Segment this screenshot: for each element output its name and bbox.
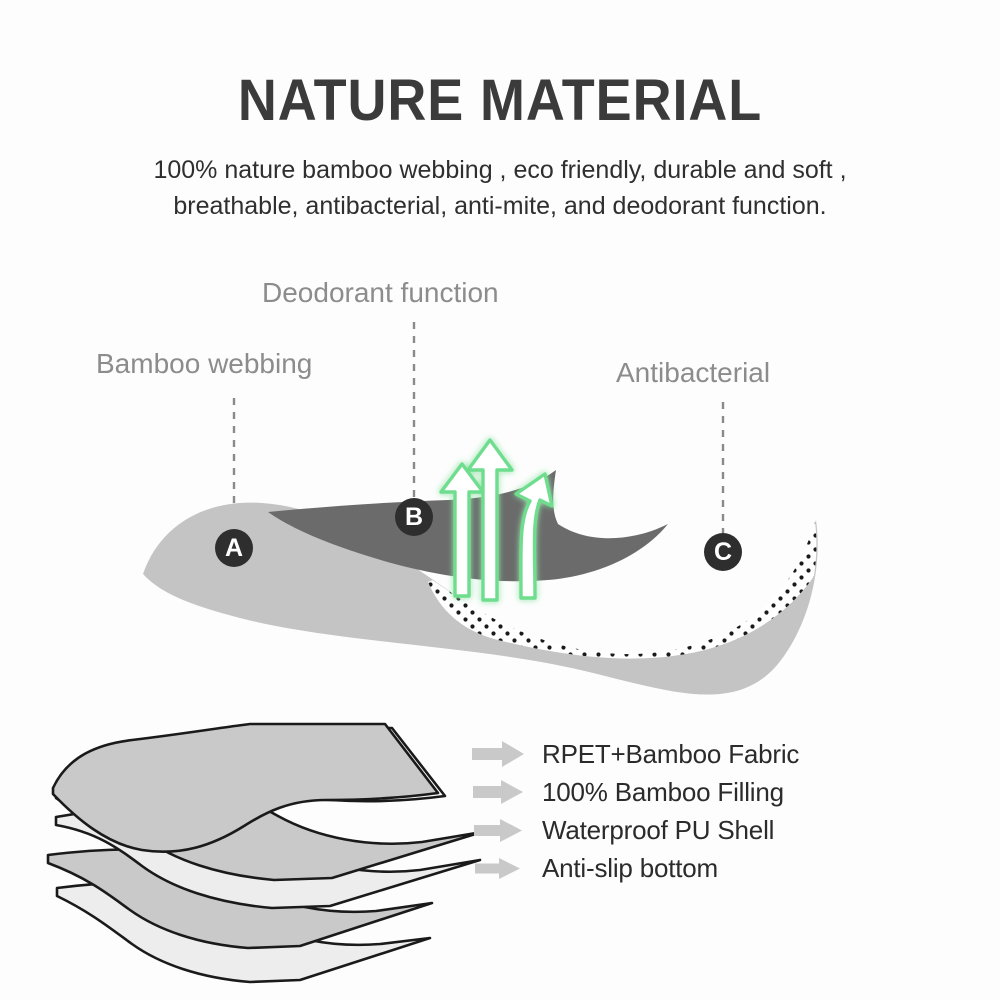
- breathability-arrows: [441, 440, 552, 600]
- layer-list-item-1: 100% Bamboo Filling: [470, 773, 920, 811]
- callout-marker-b[interactable]: B: [395, 498, 433, 536]
- callout-marker-c[interactable]: C: [704, 533, 742, 571]
- layer-label-0: RPET+Bamboo Fabric: [542, 739, 799, 770]
- layer-label-2: Waterproof PU Shell: [542, 815, 774, 846]
- layer-list-item-0: RPET+Bamboo Fabric: [470, 735, 920, 773]
- right-arrow-icon: [470, 817, 526, 844]
- right-arrow-icon: [470, 856, 526, 881]
- callout-marker-a[interactable]: A: [215, 529, 253, 567]
- callout-marker-a-letter: A: [225, 534, 243, 562]
- layer-list-item-3: Anti-slip bottom: [470, 849, 920, 887]
- callout-marker-c-letter: C: [714, 538, 732, 566]
- right-arrow-icon: [470, 739, 526, 769]
- infographic-page: NATURE MATERIAL 100% nature bamboo webbi…: [0, 0, 1000, 1000]
- right-arrow-icon: [470, 778, 526, 806]
- layer-label-3: Anti-slip bottom: [542, 853, 718, 884]
- layer-stack-illustration: [48, 724, 482, 982]
- layer-list-item-2: Waterproof PU Shell: [470, 811, 920, 849]
- layer-label-1: 100% Bamboo Filling: [542, 777, 784, 808]
- layer-list: RPET+Bamboo Fabric 100% Bamboo Filling W…: [470, 735, 920, 887]
- callout-marker-b-letter: B: [405, 503, 423, 531]
